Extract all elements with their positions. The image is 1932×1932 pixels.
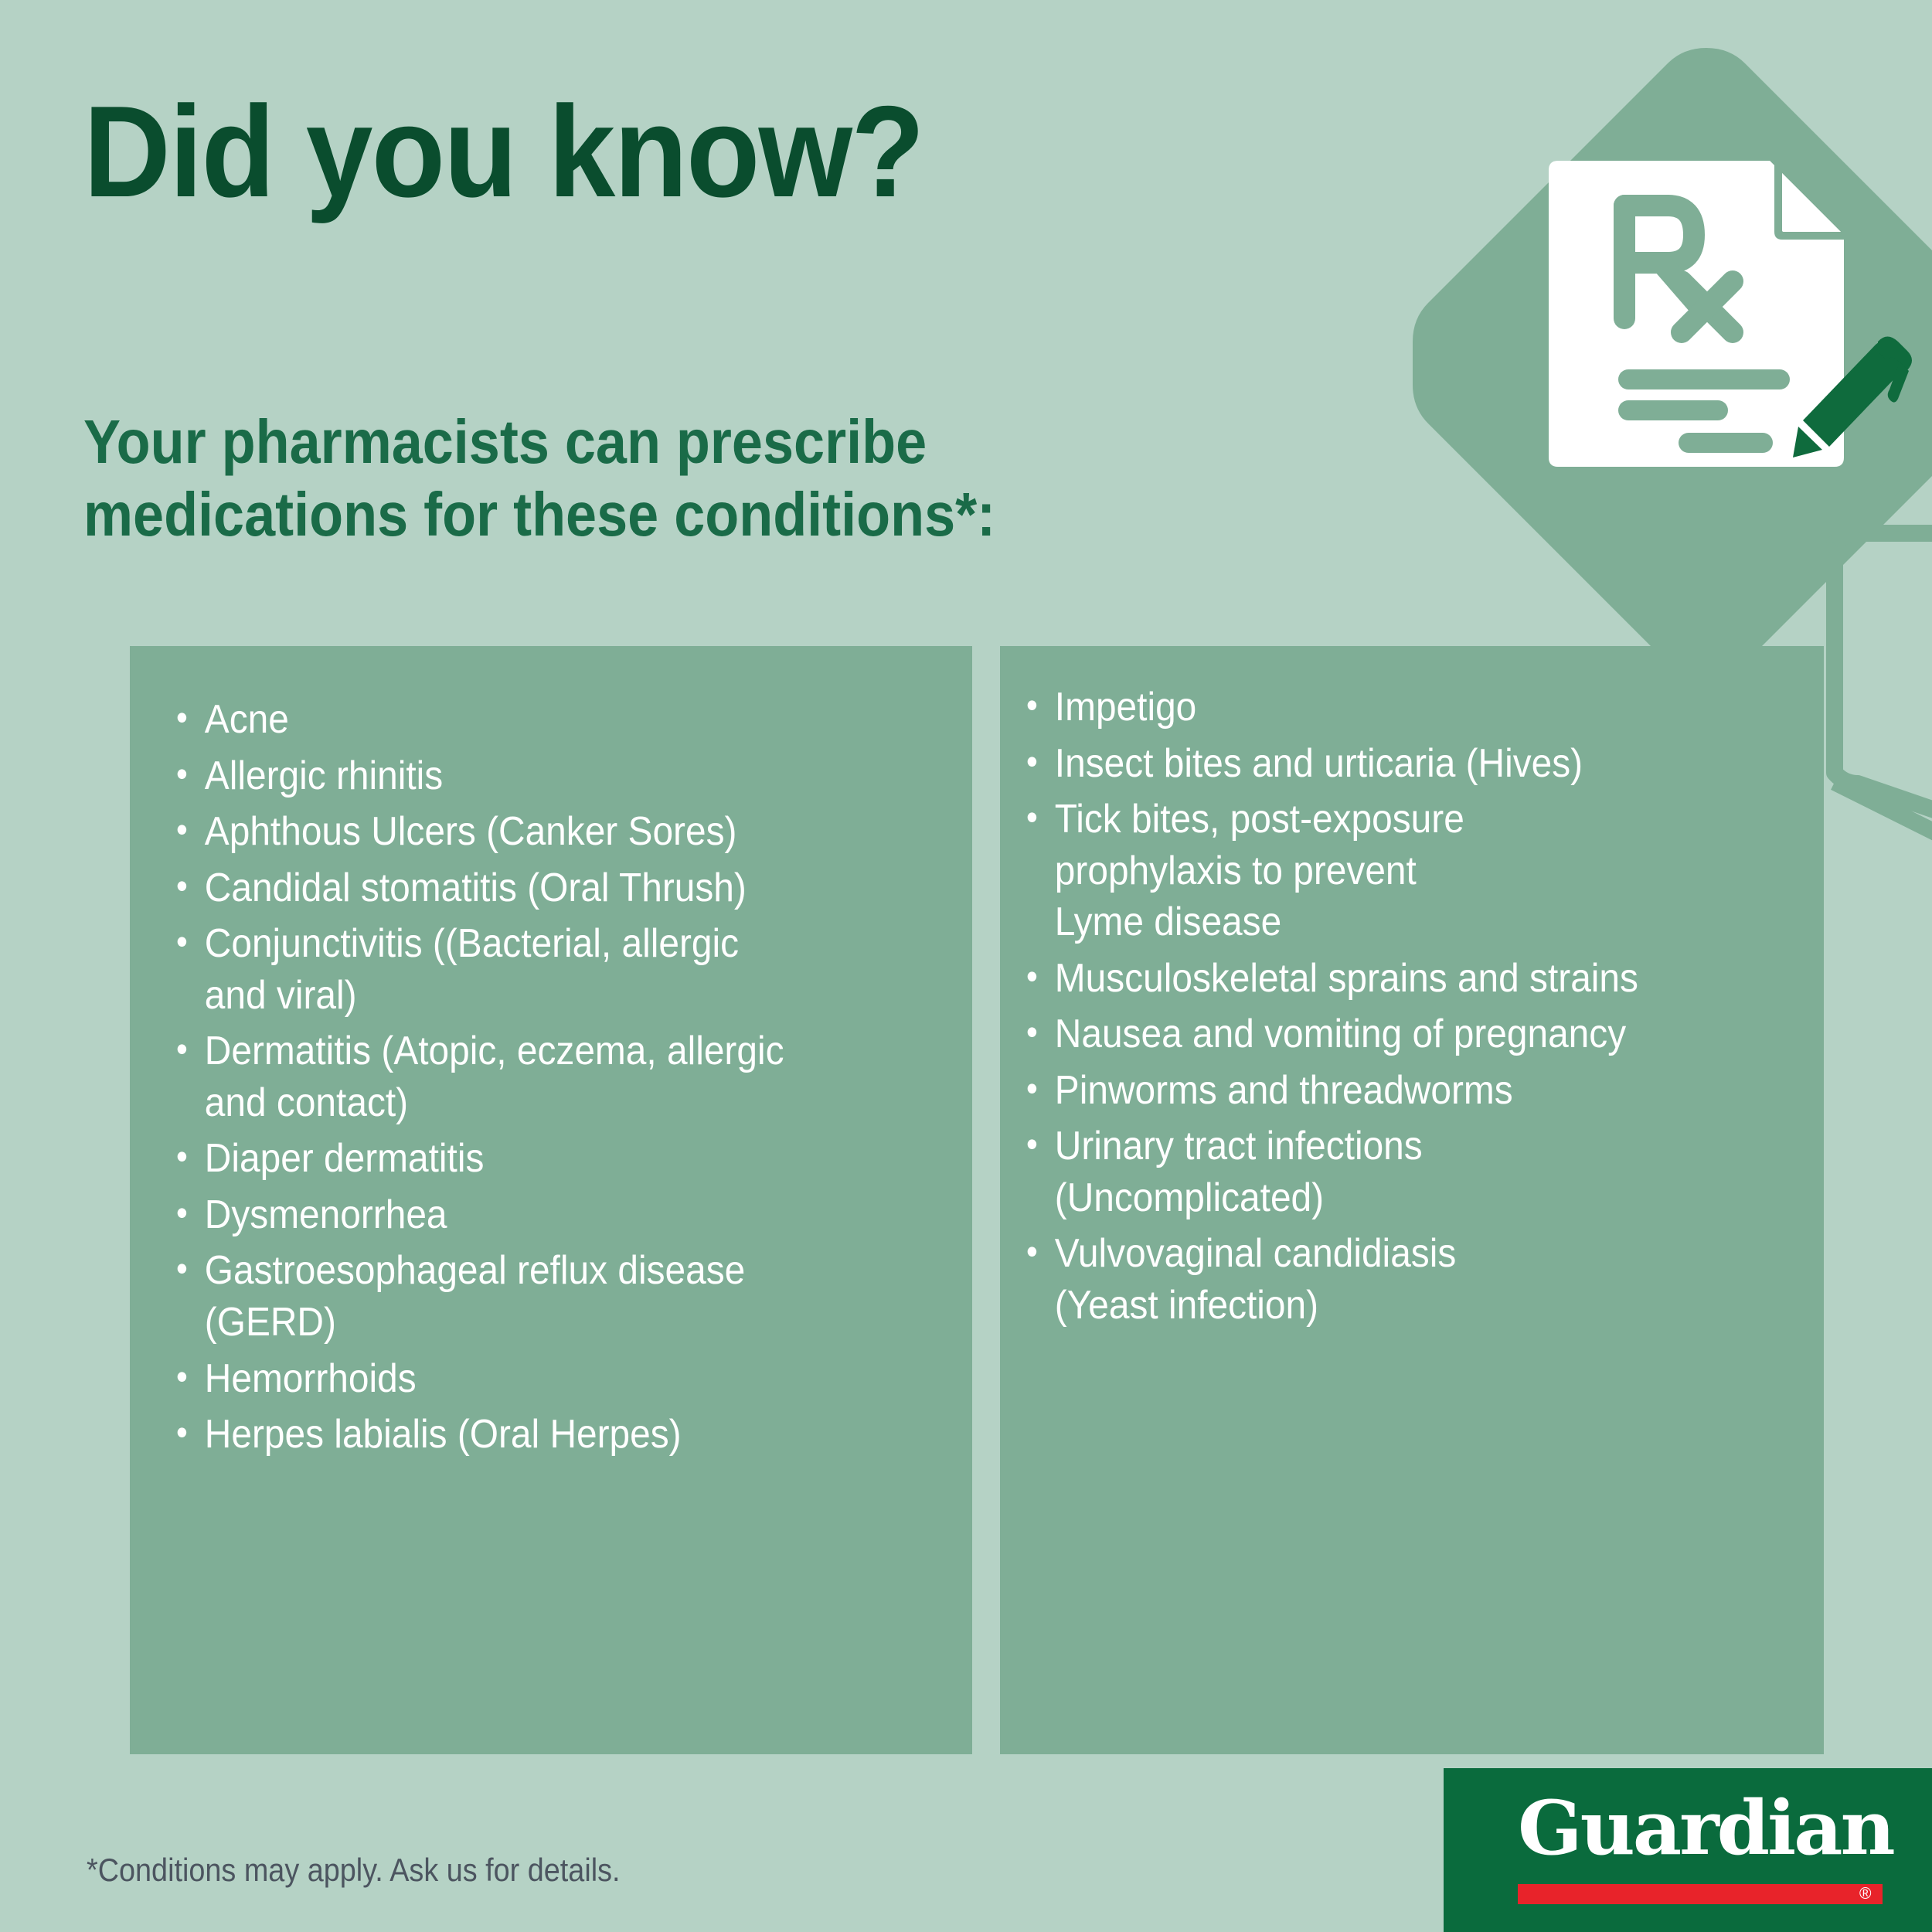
conditions-panel-right: Impetigo Insect bites and urticaria (Hiv… xyxy=(1000,646,1824,1754)
prescription-document-with-pen-icon xyxy=(1538,155,1924,479)
list-item: Aphthous Ulcers (Canker Sores) xyxy=(176,806,887,858)
list-item: Tick bites, post-exposure prophylaxis to… xyxy=(1026,794,1751,948)
guardian-wordmark: Guardian xyxy=(1518,1791,1893,1866)
page-subtitle: Your pharmacists can prescribe medicatio… xyxy=(83,406,995,552)
list-item: Acne xyxy=(176,694,887,746)
list-item: Diaper dermatitis xyxy=(176,1133,887,1185)
guardian-logo: Guardian ® xyxy=(1444,1768,1932,1932)
hexagon-outline-shape xyxy=(1835,533,1932,835)
list-item: Conjunctivitis ((Bacterial, allergic and… xyxy=(176,918,887,1021)
document-signature-line xyxy=(1679,433,1773,453)
conditions-list-left: Acne Allergic rhinitis Aphthous Ulcers (… xyxy=(176,694,949,1465)
list-item: Dysmenorrhea xyxy=(176,1189,887,1241)
list-item: Vulvovaginal candidiasis (Yeast infectio… xyxy=(1026,1228,1751,1331)
list-item: Nausea and vomiting of pregnancy xyxy=(1026,1009,1751,1060)
list-item: Impetigo xyxy=(1026,682,1751,733)
list-item: Musculoskeletal sprains and strains xyxy=(1026,953,1751,1005)
list-item: Insect bites and urticaria (Hives) xyxy=(1026,738,1751,790)
registered-trademark-mark: ® xyxy=(1859,1886,1871,1902)
guardian-logo-red-bar xyxy=(1518,1884,1883,1904)
list-item: Hemorrhoids xyxy=(176,1353,887,1405)
list-item: Herpes labialis (Oral Herpes) xyxy=(176,1409,887,1461)
conditions-panel-left: Acne Allergic rhinitis Aphthous Ulcers (… xyxy=(130,646,972,1754)
list-item: Urinary tract infections (Uncomplicated) xyxy=(1026,1121,1751,1223)
footnote-disclaimer: *Conditions may apply. Ask us for detail… xyxy=(87,1852,621,1889)
page-title: Did you know? xyxy=(83,87,923,216)
document-text-line-1 xyxy=(1618,369,1790,389)
document-text-line-2 xyxy=(1618,400,1728,420)
list-item: Dermatitis (Atopic, eczema, allergic and… xyxy=(176,1026,887,1128)
conditions-list-right: Impetigo Insect bites and urticaria (Hiv… xyxy=(1026,682,1815,1336)
list-item: Pinworms and threadworms xyxy=(1026,1065,1751,1117)
list-item: Allergic rhinitis xyxy=(176,750,887,802)
list-item: Gastroesophageal reflux disease (GERD) xyxy=(176,1245,887,1348)
list-item: Candidal stomatitis (Oral Thrush) xyxy=(176,862,887,914)
hexagon-outline-shape-lower xyxy=(1835,782,1932,873)
